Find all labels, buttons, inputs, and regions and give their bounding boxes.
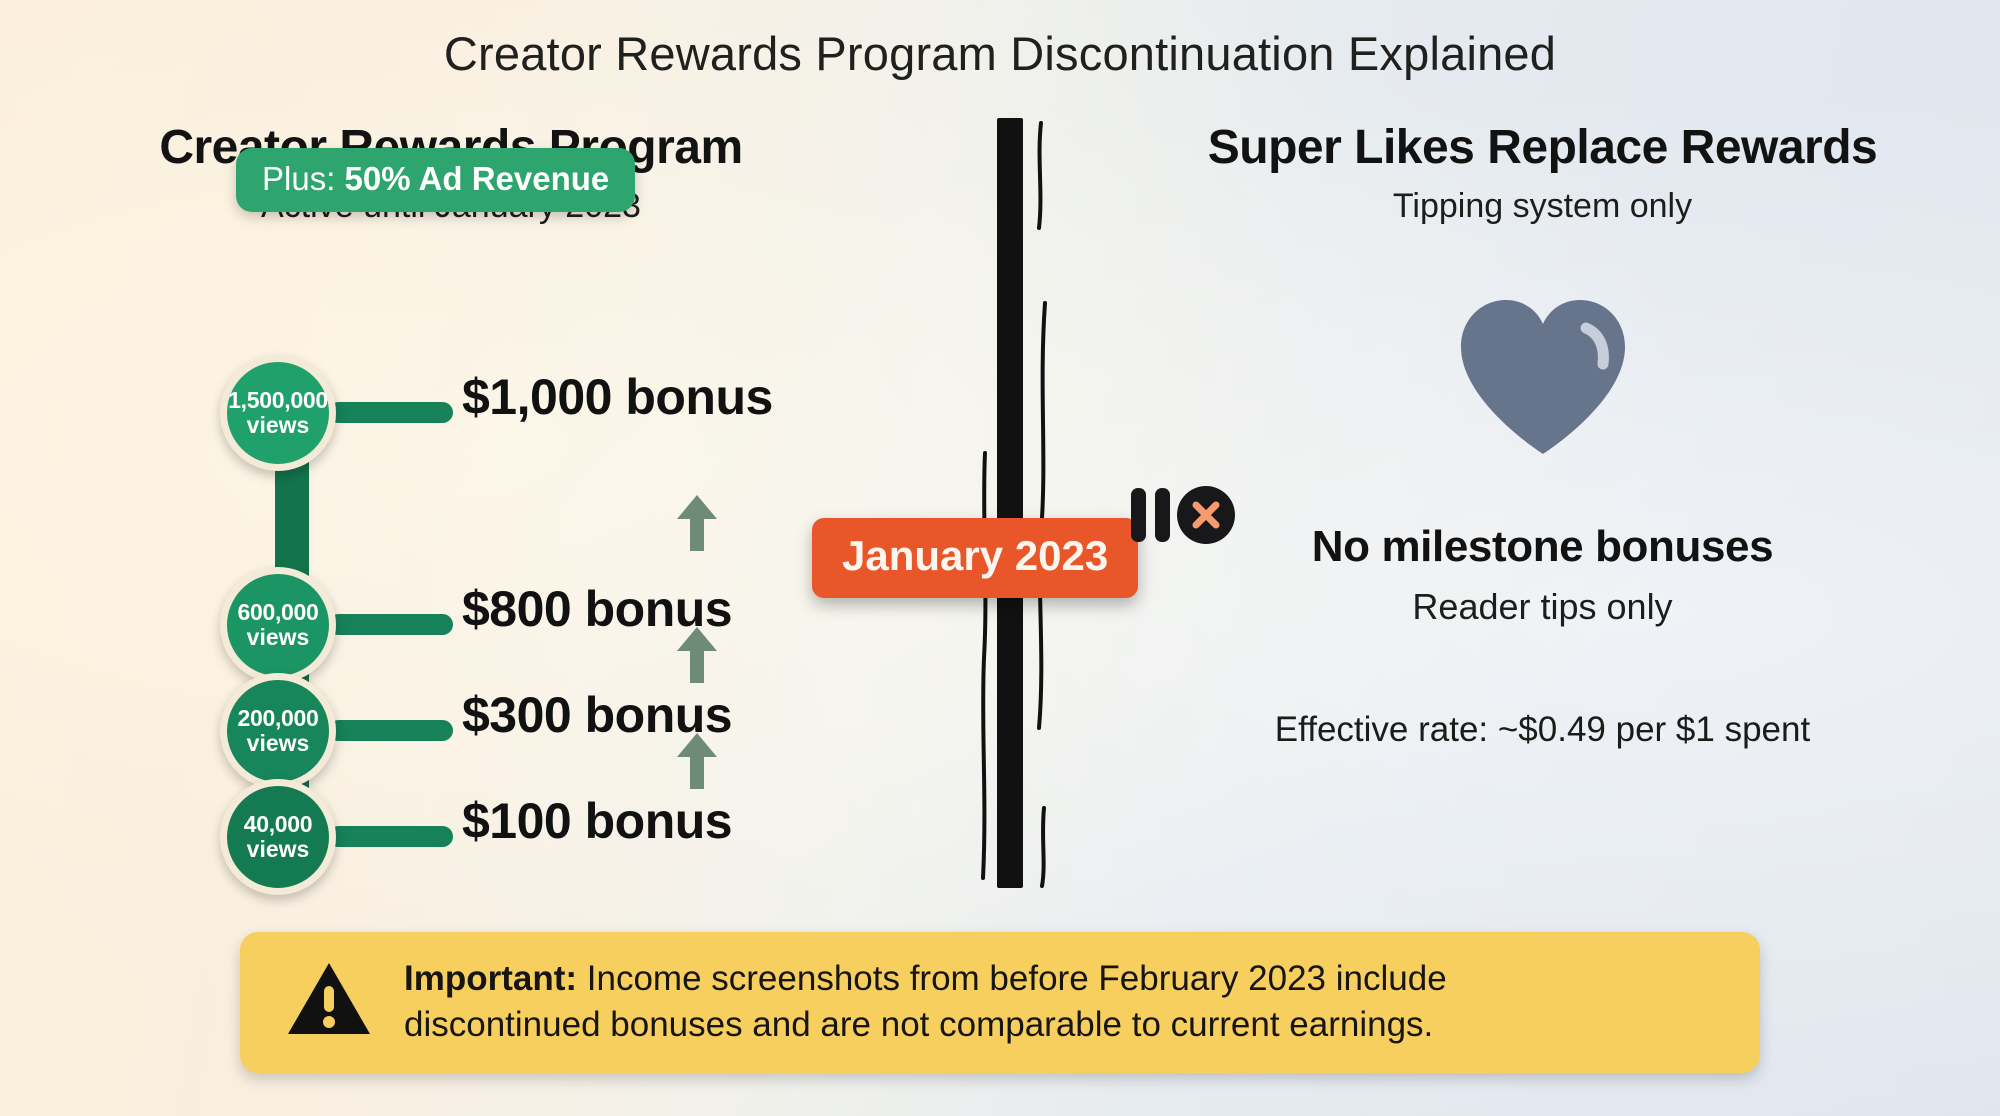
up-arrow-icon bbox=[676, 495, 718, 551]
milestone-views-word: views bbox=[247, 836, 310, 862]
pause-icon bbox=[1129, 486, 1173, 549]
warning-text: Important: Income screenshots from befor… bbox=[404, 956, 1447, 1047]
milestone-node: 600,000 views bbox=[220, 567, 336, 683]
up-arrow-icon bbox=[676, 627, 718, 683]
infographic-canvas: Creator Rewards Program Discontinuation … bbox=[0, 0, 2000, 1116]
right-panel-line2: Reader tips only bbox=[1085, 586, 2000, 628]
right-panel-heading: Super Likes Replace Rewards bbox=[1085, 120, 2000, 175]
milestone-views-number: 600,000 bbox=[237, 600, 318, 624]
milestone-views-word: views bbox=[247, 624, 310, 650]
warning-bold-prefix: Important: bbox=[404, 959, 577, 998]
milestone-connector bbox=[328, 720, 453, 741]
milestone-bonus-word: bonus bbox=[625, 369, 772, 425]
ad-revenue-badge-highlight: 50% Ad Revenue bbox=[345, 160, 610, 197]
milestone-views-word: views bbox=[247, 730, 310, 756]
stop-circle-icon bbox=[1175, 484, 1237, 551]
warning-text-line2: discontinued bonuses and are not compara… bbox=[404, 1002, 1447, 1048]
heart-icon bbox=[1453, 294, 1633, 460]
right-panel-subheading: Tipping system only bbox=[1085, 187, 2000, 226]
milestone-bonus-amount: $800 bbox=[462, 581, 571, 637]
milestone-bonus-label: $1,000 bonus bbox=[462, 368, 773, 426]
milestone-connector bbox=[328, 614, 453, 635]
warning-banner: Important: Income screenshots from befor… bbox=[240, 932, 1760, 1073]
up-arrow-icon bbox=[676, 733, 718, 789]
ad-revenue-badge: Plus: 50% Ad Revenue bbox=[236, 148, 635, 212]
milestone-node: 40,000 views bbox=[220, 779, 336, 895]
warning-triangle-icon bbox=[286, 960, 372, 1043]
milestone-bonus-amount: $100 bbox=[462, 793, 571, 849]
milestone-views-word: views bbox=[247, 412, 310, 438]
divider-sketch-strokes bbox=[975, 118, 1085, 888]
milestone-bonus-amount: $1,000 bbox=[462, 369, 612, 425]
milestone-views-number: 1,500,000 bbox=[228, 388, 328, 412]
ad-revenue-badge-prefix: Plus: bbox=[262, 160, 345, 197]
milestone-connector bbox=[328, 402, 453, 423]
milestone-bonus-label: $100 bonus bbox=[462, 792, 732, 850]
page-title: Creator Rewards Program Discontinuation … bbox=[0, 26, 2000, 81]
warning-text-line1: Important: Income screenshots from befor… bbox=[404, 956, 1447, 1002]
effective-rate-text: Effective rate: ~$0.49 per $1 spent bbox=[1085, 710, 2000, 750]
milestone-connector bbox=[328, 826, 453, 847]
warning-line1-rest: Income screenshots from before February … bbox=[577, 959, 1447, 998]
milestone-bonus-word: bonus bbox=[585, 793, 732, 849]
milestone-node: 200,000 views bbox=[220, 673, 336, 789]
milestone-views-number: 40,000 bbox=[244, 812, 313, 836]
milestone-bonus-amount: $300 bbox=[462, 687, 571, 743]
timeline-divider bbox=[975, 118, 1085, 888]
right-panel: Super Likes Replace Rewards Tipping syst… bbox=[1085, 120, 2000, 750]
milestone-node: 1,500,000 views bbox=[220, 355, 336, 471]
date-badge: January 2023 bbox=[812, 518, 1138, 598]
heart-icon-wrapper bbox=[1085, 294, 2000, 460]
milestone-views-number: 200,000 bbox=[237, 706, 318, 730]
